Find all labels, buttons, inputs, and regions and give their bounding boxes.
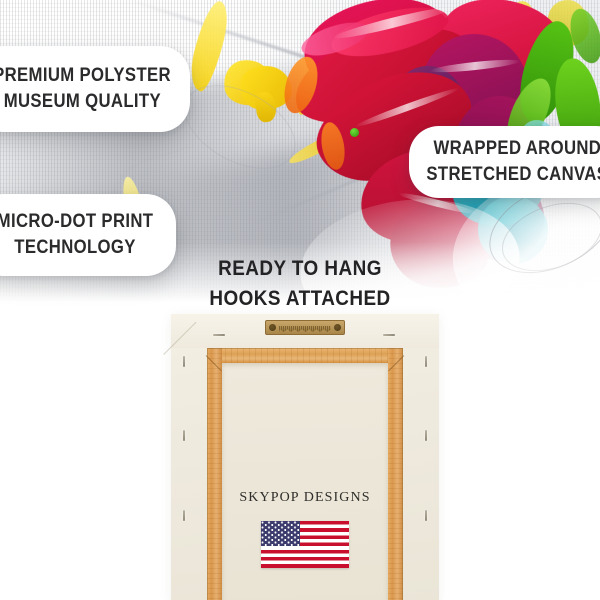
staple <box>383 334 395 336</box>
staple <box>183 356 185 367</box>
staple <box>425 356 427 367</box>
product-feature-graphic: PREMIUM POLYSTER MUSEUM QUALITY WRAPPED … <box>0 0 600 600</box>
us-flag-icon <box>261 521 349 568</box>
badge-line: STRETCHED CANVAS <box>427 162 600 188</box>
staple <box>425 510 427 521</box>
staple <box>183 430 185 441</box>
paint-dot-green <box>350 128 359 137</box>
sawtooth-hanger <box>265 320 345 335</box>
headline-ready-to-hang: READY TO HANG HOOKS ATTACHED <box>0 254 600 314</box>
staple <box>183 510 185 521</box>
hanger-screw-hole <box>269 324 276 331</box>
canvas-back-view: SKYPOP DESIGNS <box>171 314 439 600</box>
staple <box>213 334 225 336</box>
hanger-screw-hole <box>334 324 341 331</box>
feature-badge-wrapped-around: WRAPPED AROUND STRETCHED CANVAS <box>409 126 600 198</box>
flag-stars <box>261 521 300 546</box>
headline-line-2: HOOKS ATTACHED <box>30 284 570 314</box>
hanger-teeth <box>279 326 331 332</box>
feature-badge-premium-polyster: PREMIUM POLYSTER MUSEUM QUALITY <box>0 46 190 132</box>
staple <box>425 430 427 441</box>
brand-label: SKYPOP DESIGNS <box>171 490 439 506</box>
badge-line: WRAPPED AROUND <box>434 136 600 162</box>
badge-line: MUSEUM QUALITY <box>3 89 160 115</box>
flag-canton <box>261 521 300 546</box>
badge-line: PREMIUM POLYSTER <box>0 63 171 89</box>
headline-line-1: READY TO HANG <box>30 254 570 284</box>
badge-line: MICRO-DOT PRINT <box>0 209 153 235</box>
